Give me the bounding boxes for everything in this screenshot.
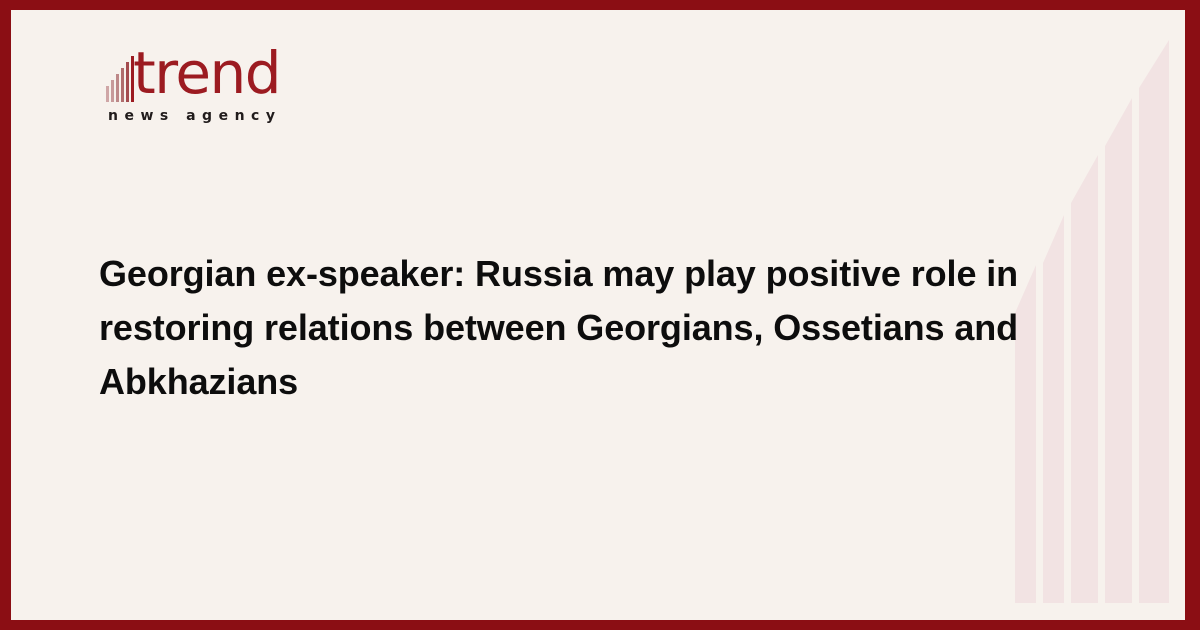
decorative-bar-bevel — [1105, 98, 1132, 146]
decorative-bar-bevel — [1071, 155, 1098, 203]
share-card: trend news agency Georgian ex-speaker: R… — [0, 0, 1200, 630]
logo-tagline: news agency — [108, 108, 281, 124]
logo-top-row: trend — [97, 46, 327, 104]
logo-mark-bar — [106, 86, 109, 102]
decorative-bar — [1139, 40, 1169, 603]
logo-wordmark: trend — [133, 42, 280, 104]
logo-mark-bar — [121, 68, 124, 102]
logo-mark-bar — [116, 74, 119, 102]
article-headline: Georgian ex-speaker: Russia may play pos… — [99, 247, 1074, 409]
card-canvas: trend news agency Georgian ex-speaker: R… — [11, 10, 1185, 620]
logo-mark-bar — [111, 80, 114, 102]
logo-mark-bar — [126, 62, 129, 102]
trend-news-agency-logo[interactable]: trend news agency — [97, 46, 327, 141]
decorative-bar-bevel — [1139, 40, 1169, 88]
decorative-bar — [1071, 155, 1098, 603]
decorative-bar — [1105, 98, 1132, 603]
